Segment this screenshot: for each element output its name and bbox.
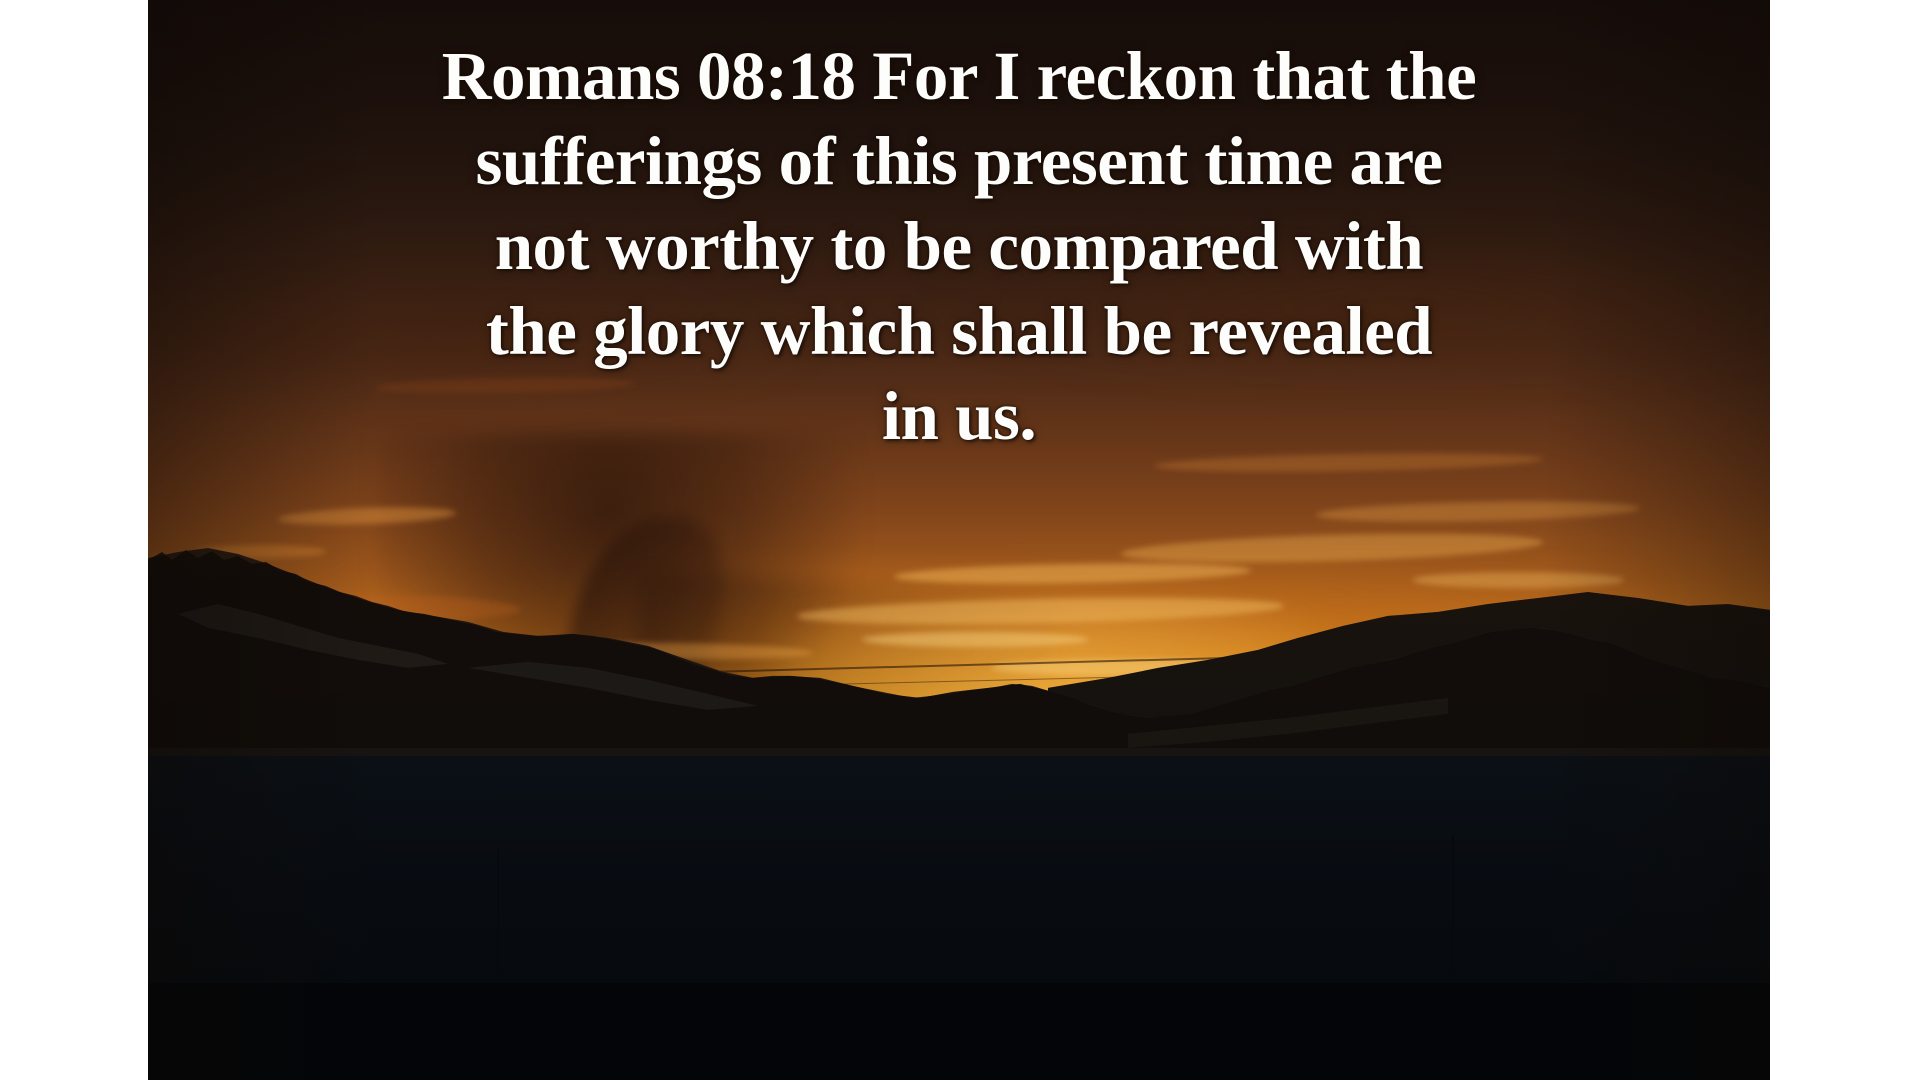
scripture-slide: Romans 08:18 For I reckon that the suffe… — [148, 0, 1770, 1080]
verse-overlay-text: Romans 08:18 For I reckon that the suffe… — [148, 34, 1770, 459]
page-root: Romans 08:18 For I reckon that the suffe… — [0, 0, 1920, 1080]
